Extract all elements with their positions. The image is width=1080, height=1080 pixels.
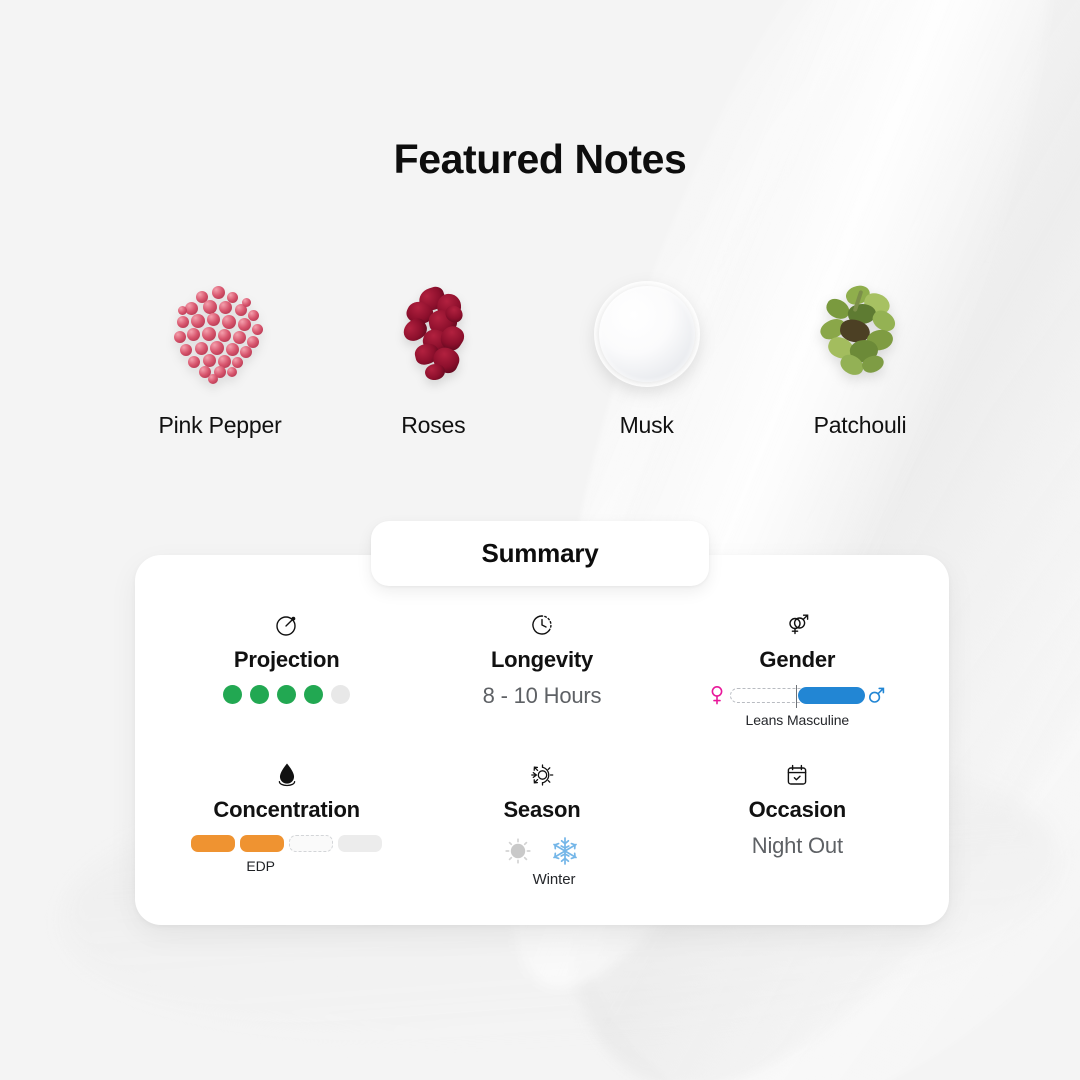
projection-dot-3 [277,685,296,704]
gender-slider-row [710,685,885,705]
note-label: Musk [620,412,674,439]
summary-cell-projection: Projection [159,611,414,761]
cell-title: Concentration [213,797,360,823]
female-venus-icon [710,685,724,705]
projection-dot-4 [304,685,323,704]
season-sun-snow-icon [530,761,554,789]
gender-value-label: Leans Masculine [746,712,850,728]
gender-venus-mars-icon [784,611,810,639]
projection-dot-2 [250,685,269,704]
male-mars-icon [868,686,885,704]
cell-title: Longevity [491,647,593,673]
concentration-segment-2 [240,835,284,852]
occasion-value: Night Out [752,833,843,859]
musk-fuzz-edge [594,281,700,387]
musk-puff-image [599,286,695,382]
featured-notes-row: Pink Pepper Roses Mu [150,286,930,439]
gender-slider-midpoint-tick [796,685,797,708]
concentration-value-label: EDP [246,858,275,874]
summary-card: Projection Longevi [135,555,949,925]
note-item-patchouli[interactable]: Patchouli [790,286,930,439]
note-label: Pink Pepper [158,412,281,439]
clock-icon [530,611,554,639]
summary-cell-season: Season [414,761,669,911]
note-item-pink-pepper[interactable]: Pink Pepper [150,286,290,439]
summary-cell-concentration: Concentration EDP [159,761,414,911]
season-value-label: Winter [533,871,576,888]
longevity-value: 8 - 10 Hours [483,683,602,709]
pink-pepper-berries-image [172,286,268,382]
concentration-segments [191,835,382,852]
rose-petals-image [385,286,481,382]
cell-title: Projection [234,647,340,673]
page-title: Featured Notes [0,136,1080,183]
patchouli-leaves-image [812,286,908,382]
gender-slider-fill [798,687,864,704]
sun-icon[interactable] [503,836,533,866]
note-label: Patchouli [814,412,907,439]
summary-cell-gender: Gender [670,611,925,761]
snowflake-icon[interactable] [549,835,581,867]
note-label: Roses [401,412,465,439]
calendar-check-icon [785,761,809,789]
gender-slider-track[interactable] [730,688,862,703]
note-item-roses[interactable]: Roses [363,286,503,439]
page-root: Featured Notes [0,0,1080,1080]
season-options [503,835,581,867]
gender-slider[interactable]: Leans Masculine [710,685,885,728]
concentration-segment-3 [289,835,333,852]
summary-grid: Projection Longevi [159,611,925,911]
cell-title: Gender [759,647,835,673]
projection-dot-5 [331,685,350,704]
summary-pill-label: Summary [481,538,598,569]
droplet-icon [276,761,298,789]
summary-cell-longevity: Longevity 8 - 10 Hours [414,611,669,761]
cell-title: Occasion [749,797,846,823]
season-selector[interactable]: Winter [503,835,581,888]
projection-rating-dots [223,685,350,704]
summary-cell-occasion: Occasion Night Out [670,761,925,911]
concentration-segment-4 [338,835,382,852]
concentration-meter[interactable]: EDP [191,835,382,874]
projection-gauge-icon [275,611,299,639]
concentration-segment-1 [191,835,235,852]
projection-dot-1 [223,685,242,704]
cell-title: Season [503,797,580,823]
note-item-musk[interactable]: Musk [577,286,717,439]
summary-pill[interactable]: Summary [371,521,709,586]
